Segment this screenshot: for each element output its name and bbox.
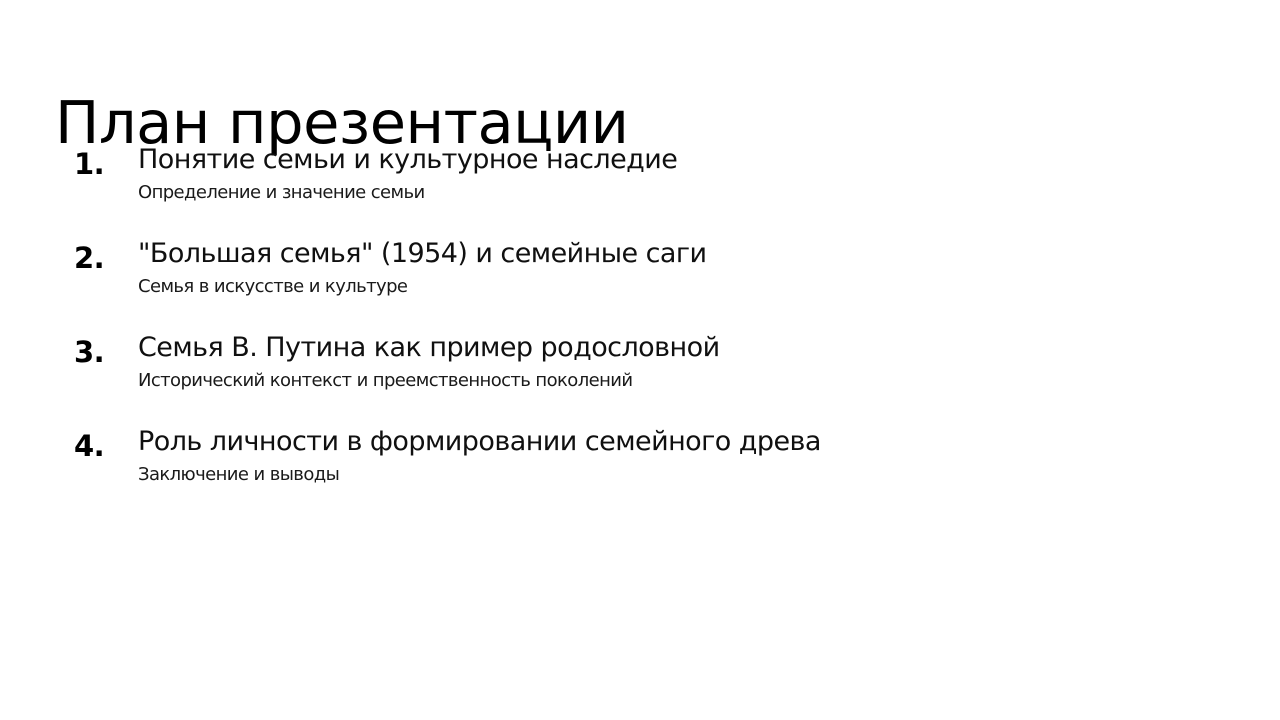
list-item-subtitle: Семья в искусстве и культуре — [138, 276, 1220, 298]
list-item-subtitle: Заключение и выводы — [138, 464, 1220, 486]
presentation-slide: План презентации 1. Понятие семьи и куль… — [0, 0, 1280, 720]
list-item-number: 2. — [60, 238, 122, 275]
list-item: 2. "Большая семья" (1954) и семейные саг… — [60, 238, 1220, 308]
list-item-heading: "Большая семья" (1954) и семейные саги — [138, 238, 1220, 270]
list-item-body: Понятие семьи и культурное наследие Опре… — [122, 144, 1220, 203]
list-item-body: Семья В. Путина как пример родословной И… — [122, 332, 1220, 391]
list-item-heading: Роль личности в формировании семейного д… — [138, 426, 1220, 458]
list-item-body: "Большая семья" (1954) и семейные саги С… — [122, 238, 1220, 297]
list-item-heading: Семья В. Путина как пример родословной — [138, 332, 1220, 364]
list-item: 3. Семья В. Путина как пример родословно… — [60, 332, 1220, 402]
list-item-body: Роль личности в формировании семейного д… — [122, 426, 1220, 485]
list-item-subtitle: Определение и значение семьи — [138, 182, 1220, 204]
list-item: 4. Роль личности в формировании семейног… — [60, 426, 1220, 496]
agenda-list: 1. Понятие семьи и культурное наследие О… — [60, 144, 1220, 496]
list-item: 1. Понятие семьи и культурное наследие О… — [60, 144, 1220, 214]
list-item-number: 4. — [60, 426, 122, 463]
list-item-number: 3. — [60, 332, 122, 369]
list-item-subtitle: Исторический контекст и преемственность … — [138, 370, 1220, 392]
list-item-heading: Понятие семьи и культурное наследие — [138, 144, 1220, 176]
list-item-number: 1. — [60, 144, 122, 181]
